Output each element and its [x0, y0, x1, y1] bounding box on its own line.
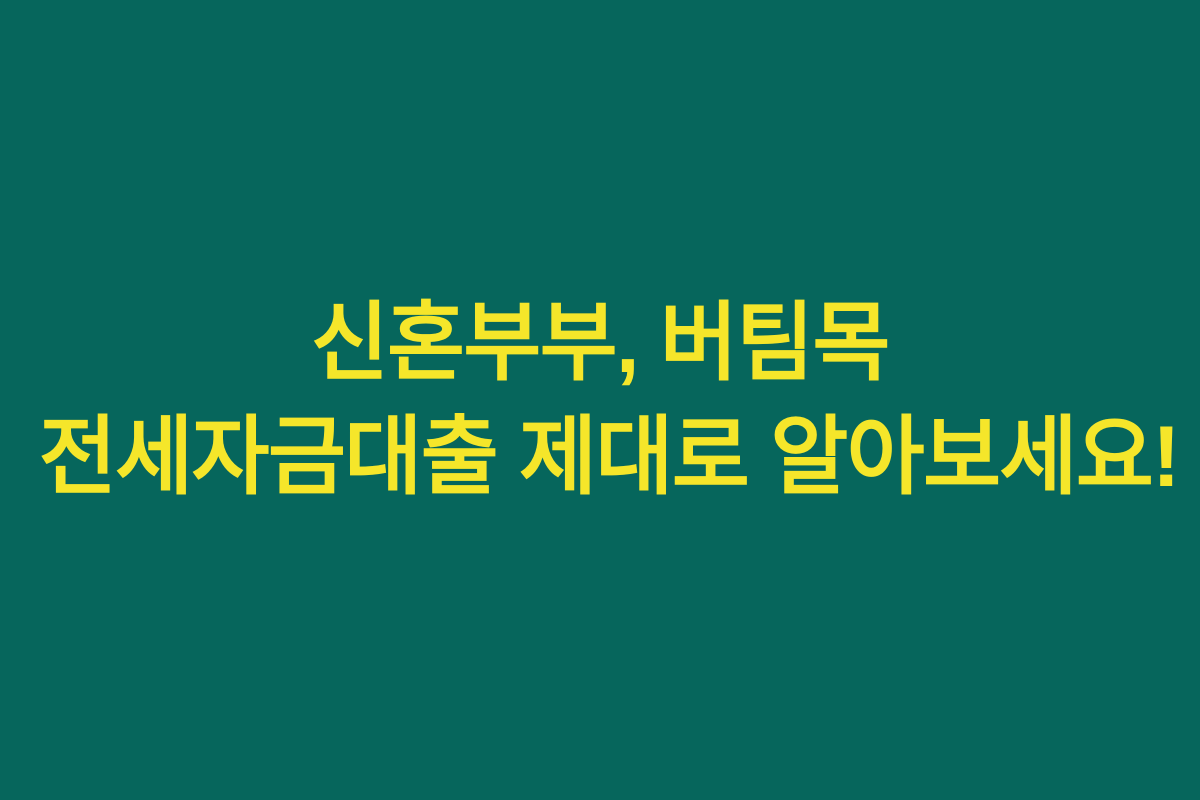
promo-banner: 신혼부부, 버팀목 전세자금대출 제대로 알아보세요!: [0, 0, 1200, 800]
headline-line-2: 전세자금대출 제대로 알아보세요!: [39, 414, 1179, 500]
headline-line-2-wrapper: 전세자금대출 제대로 알아보세요!: [30, 414, 1170, 500]
headline-line-1: 신혼부부, 버팀목: [311, 300, 889, 386]
headline-block: 신혼부부, 버팀목 전세자금대출 제대로 알아보세요!: [0, 0, 1200, 800]
